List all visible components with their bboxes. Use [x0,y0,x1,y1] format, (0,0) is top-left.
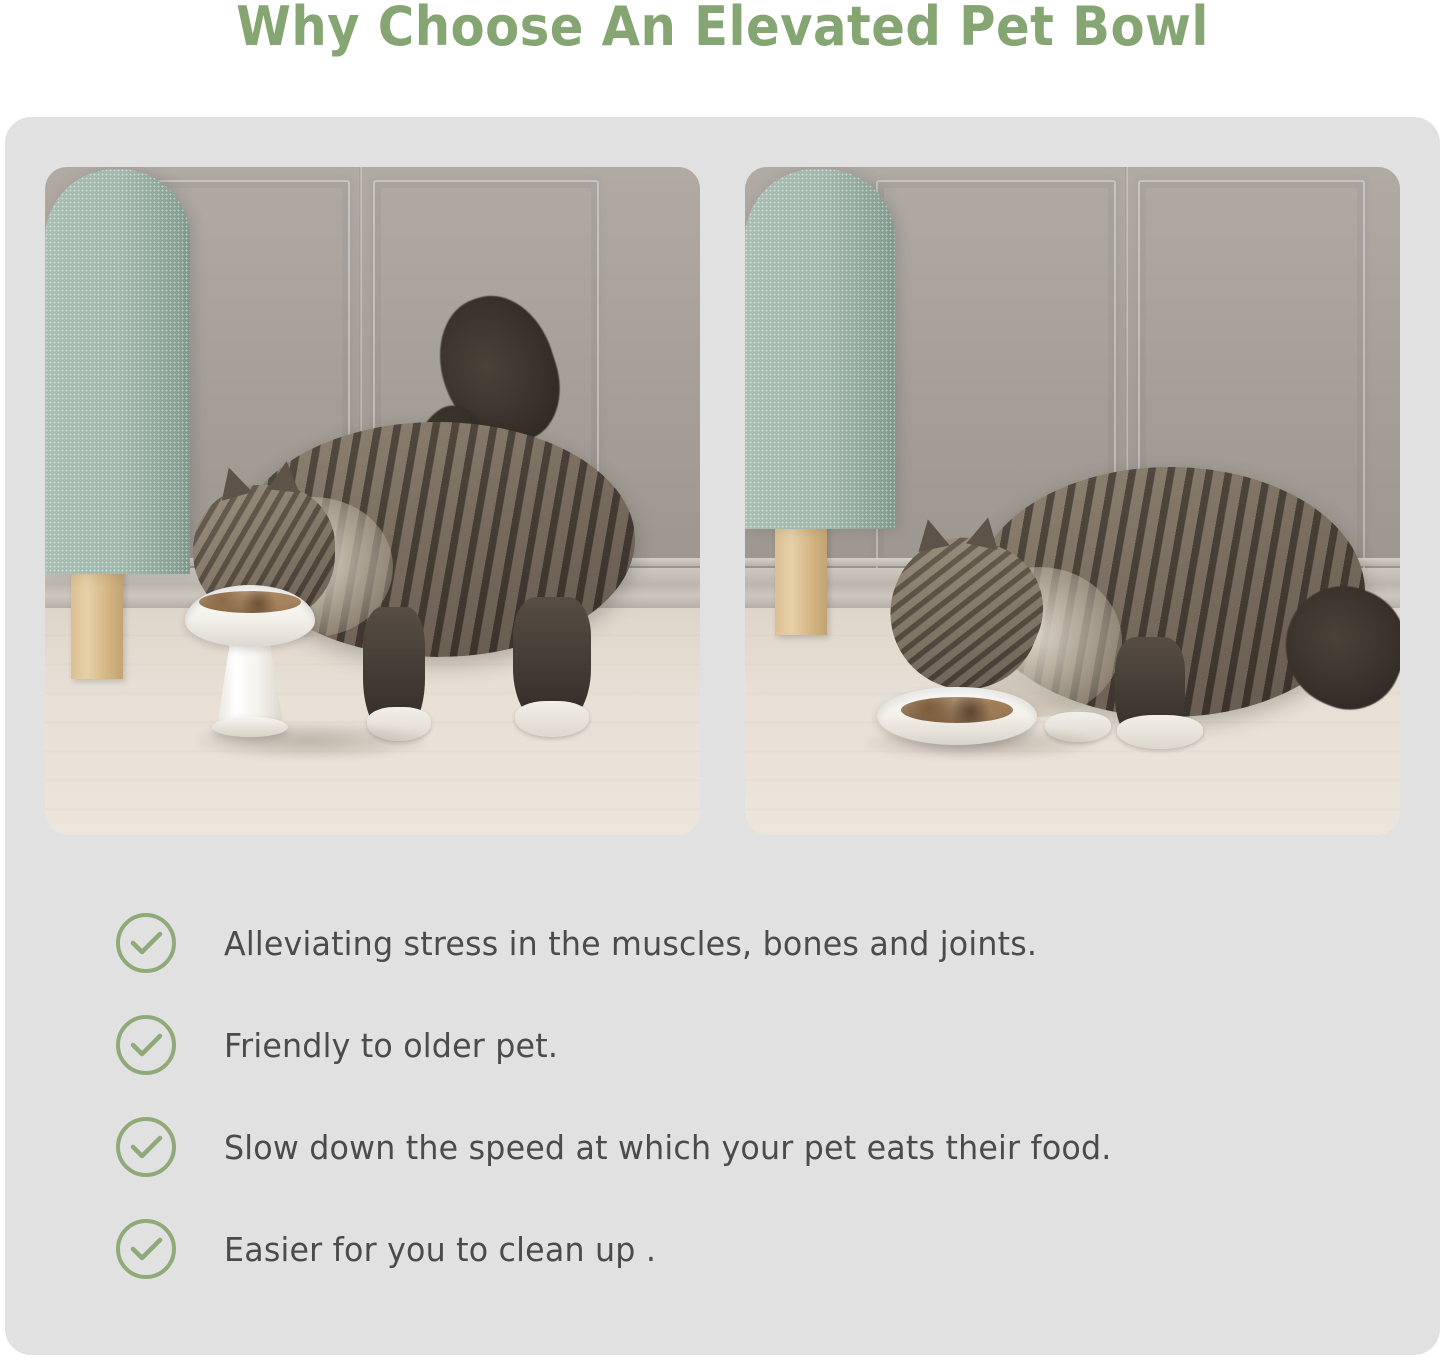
sofa-arm-upholstery [45,169,190,574]
benefit-label: Easier for you to clean up . [224,1230,656,1269]
sofa-wooden-leg [71,559,123,679]
floor-bowl-photo [745,167,1400,835]
benefit-item: Easier for you to clean up . [115,1198,1405,1300]
cat-paw [1117,715,1203,749]
cat-ear [268,459,303,492]
bowl-base [212,717,288,737]
sofa-wooden-leg [775,515,827,635]
page-title: Why Choose An Elevated Pet Bowl [58,0,1387,56]
pet-food [901,697,1013,723]
benefit-item: Alleviating stress in the muscles, bones… [115,892,1405,994]
benefits-list: Alleviating stress in the muscles, bones… [115,892,1405,1300]
circle-check-icon [115,1218,177,1280]
benefit-item: Friendly to older pet. [115,994,1405,1096]
content-card: Alleviating stress in the muscles, bones… [5,117,1440,1355]
cat-paw [515,701,589,737]
circle-check-icon [115,1014,177,1076]
comparison-photo-row [45,167,1401,835]
circle-check-icon [115,1116,177,1178]
pet-food [199,591,301,613]
benefit-label: Alleviating stress in the muscles, bones… [224,924,1037,963]
benefit-label: Friendly to older pet. [224,1026,558,1065]
benefit-item: Slow down the speed at which your pet ea… [115,1096,1405,1198]
elevated-bowl-photo [45,167,700,835]
sofa-arm-upholstery [745,169,895,529]
benefit-label: Slow down the speed at which your pet ea… [224,1128,1112,1167]
circle-check-icon [115,912,177,974]
cat-ear [966,514,1004,550]
